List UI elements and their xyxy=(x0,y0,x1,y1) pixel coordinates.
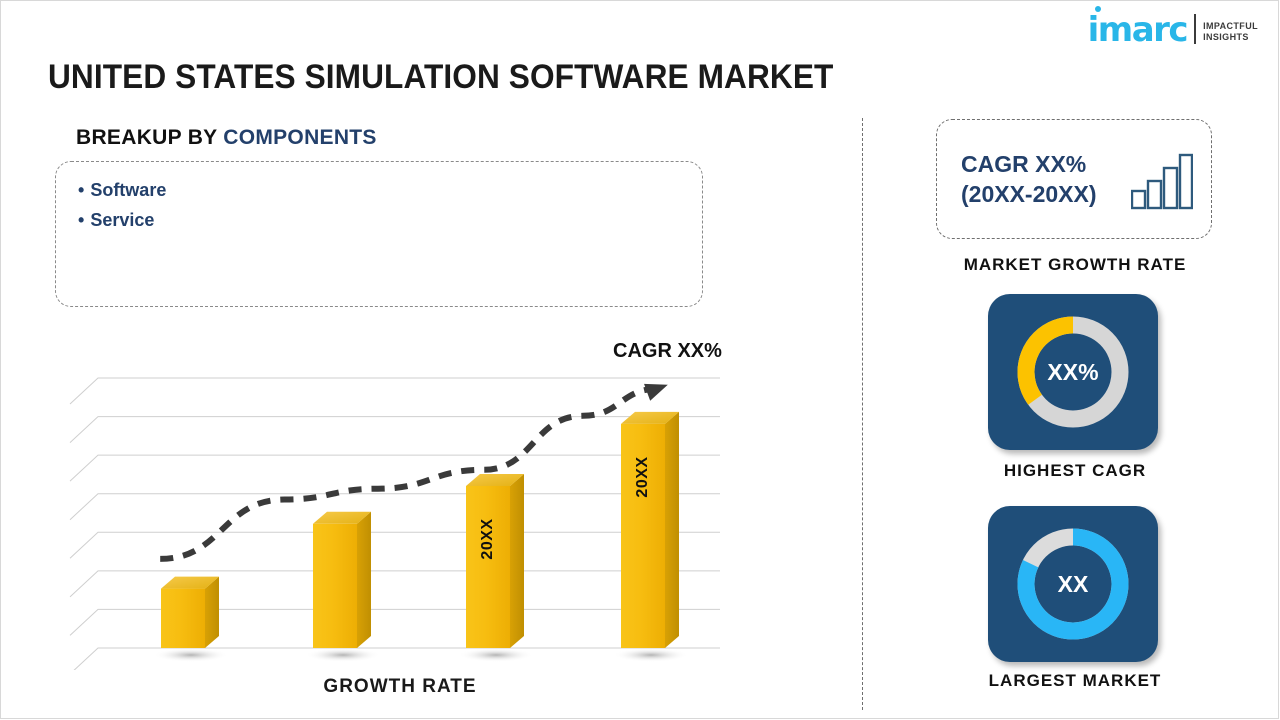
bar-value-label: 20XX xyxy=(634,437,652,517)
list-item: •Software xyxy=(78,175,166,205)
breakup-heading-accent: COMPONENTS xyxy=(223,126,377,149)
imarc-logo: imarc IMPACTFUL INSIGHTS xyxy=(1088,14,1258,45)
breakup-heading: BREAKUP BY COMPONENTS xyxy=(76,126,377,150)
logo-word-text: imarc xyxy=(1088,10,1187,50)
logo-dot-icon xyxy=(1095,6,1101,12)
largest-market-caption: LARGEST MARKET xyxy=(925,671,1225,691)
logo-tagline-line1: IMPACTFUL xyxy=(1203,21,1258,32)
components-list: •Software •Service xyxy=(78,175,166,235)
chart-x-axis-label: GROWTH RATE xyxy=(60,676,740,698)
donut-chart-largest-market xyxy=(1011,522,1135,646)
list-item-label: Service xyxy=(90,210,154,230)
growth-card-text: CAGR XX% (20XX-20XX) xyxy=(961,149,1097,209)
section-divider xyxy=(862,118,863,710)
trend-line xyxy=(160,376,671,559)
market-growth-rate-caption: MARKET GROWTH RATE xyxy=(925,255,1225,275)
logo-wordmark: imarc xyxy=(1088,15,1187,45)
list-item: •Service xyxy=(78,205,166,235)
bar-chart-icon xyxy=(1131,150,1193,210)
cagr-annotation: CAGR XX% xyxy=(613,340,722,363)
growth-period-line: (20XX-20XX) xyxy=(961,179,1097,209)
chart-bars xyxy=(154,412,689,662)
logo-tagline-line2: INSIGHTS xyxy=(1203,32,1258,43)
page-title: UNITED STATES SIMULATION SOFTWARE MARKET xyxy=(48,58,833,97)
highest-cagr-card: XX% xyxy=(988,294,1158,450)
logo-divider xyxy=(1194,14,1196,44)
donut-chart-highest-cagr xyxy=(1011,310,1135,434)
bullet-icon: • xyxy=(78,210,84,230)
components-box: •Software •Service xyxy=(55,161,703,307)
list-item-label: Software xyxy=(90,180,166,200)
bar-value-label: 20XX xyxy=(479,499,497,579)
highest-cagr-caption: HIGHEST CAGR xyxy=(925,461,1225,481)
growth-rate-chart: CAGR XX% 20XX 20XX GROWTH RATE xyxy=(60,330,750,710)
bullet-icon: • xyxy=(78,180,84,200)
breakup-heading-prefix: BREAKUP BY xyxy=(76,126,223,149)
logo-tagline: IMPACTFUL INSIGHTS xyxy=(1203,21,1258,43)
growth-cagr-line: CAGR XX% xyxy=(961,149,1097,179)
largest-market-card: XX xyxy=(988,506,1158,662)
market-growth-rate-card: CAGR XX% (20XX-20XX) xyxy=(936,119,1212,239)
